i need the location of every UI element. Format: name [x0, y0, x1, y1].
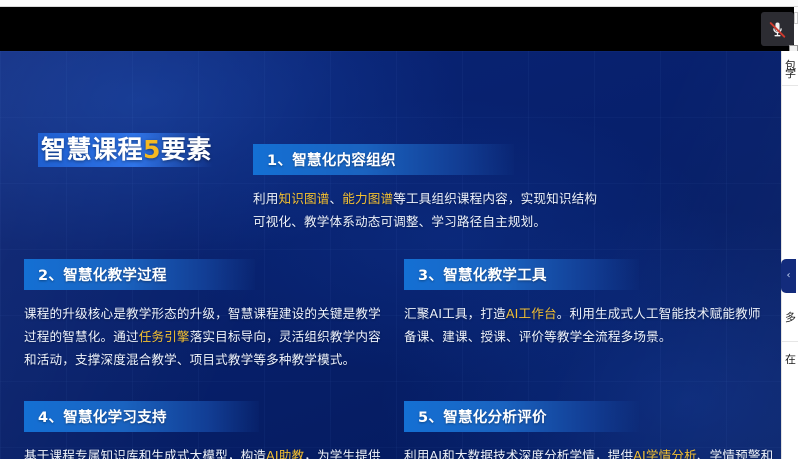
edge-divider — [782, 341, 798, 342]
page-title-number: 5 — [143, 135, 161, 164]
card-body: 课程的升级核心是教学形态的升级，智慧课程建设的关键是教学过程的智慧化。通过任务引… — [24, 303, 384, 372]
keyword-highlight: AI助教 — [266, 448, 304, 459]
page-title-suffix: 要素 — [161, 135, 212, 164]
card-body: 利用AI和大数据技术深度分析学情，提供AI学情分析、学情预警和教学建议，为个性化… — [404, 445, 776, 459]
content-card-3: 3、智慧化教学工具 汇聚AI工具，打造AI工作台。利用生成式人工智能技术赋能教师… — [404, 259, 764, 349]
body-text-run: 基于课程专属知识库和生成式大模型，构造 — [24, 448, 266, 459]
keyword-highlight: 能力图谱 — [342, 191, 393, 206]
card-body: 利用知识图谱、能力图谱等工具组织课程内容，实现知识结构可视化、教学体系动态可调整… — [253, 188, 598, 234]
content-card-5: 5、智慧化分析评价 利用AI和大数据技术深度分析学情，提供AI学情分析、学情预警… — [404, 401, 776, 459]
microphone-muted-icon[interactable] — [761, 12, 794, 46]
keyword-highlight: 知识图谱 — [279, 191, 330, 206]
edge-cutoff-column: 包学多在 — [781, 51, 798, 459]
card-heading: 3、智慧化教学工具 — [404, 259, 639, 290]
body-text-run: 、 — [329, 191, 342, 206]
card-heading: 1、智慧化内容组织 — [253, 144, 514, 175]
page-title: 智慧课程5要素 — [38, 137, 213, 162]
content-card-2: 2、智慧化教学过程 课程的升级核心是教学形态的升级，智慧课程建设的关键是教学过程… — [24, 259, 384, 372]
content-card-1: 1、智慧化内容组织 利用知识图谱、能力图谱等工具组织课程内容，实现知识结构可视化… — [253, 144, 598, 234]
presentation-slide: 智慧课程5要素 1、智慧化内容组织 利用知识图谱、能力图谱等工具组织课程内容，实… — [0, 51, 781, 459]
screen-root: 智慧课程5要素 1、智慧化内容组织 利用知识图谱、能力图谱等工具组织课程内容，实… — [0, 0, 798, 459]
card-body: 汇聚AI工具，打造AI工作台。利用生成式人工智能技术赋能教师备课、建课、授课、评… — [404, 303, 764, 349]
content-card-4: 4、智慧化学习支持 基于课程专属知识库和生成式大模型，构造AI助教，为学生提供即… — [24, 401, 386, 459]
keyword-highlight: AI学情分析 — [633, 448, 697, 459]
edge-cutoff-text: 学 — [785, 65, 796, 81]
card-heading: 4、智慧化学习支持 — [24, 401, 259, 432]
keyword-highlight: 任务引擎 — [139, 329, 190, 344]
page-title-highlight: 智慧课程 — [41, 135, 143, 164]
panel-collapse-handle-right[interactable]: ‹ — [781, 259, 796, 293]
edge-cutoff-text: 多 — [785, 309, 796, 325]
body-text-run: 汇聚AI工具，打造 — [404, 306, 506, 321]
card-heading: 5、智慧化分析评价 — [404, 401, 639, 432]
edge-cutoff-text: 在 — [785, 351, 796, 367]
body-text-run: 利用AI和大数据技术深度分析学情，提供 — [404, 448, 633, 459]
letterbox-band — [0, 7, 794, 51]
keyword-highlight: AI工作台 — [506, 306, 557, 321]
card-heading: 2、智慧化教学过程 — [24, 259, 255, 290]
edge-nub-top — [794, 12, 798, 24]
edge-divider — [782, 85, 798, 86]
chevron-left-icon: ‹ — [787, 271, 791, 281]
browser-top-strip — [0, 0, 798, 7]
body-text-run: 利用 — [253, 191, 279, 206]
card-body: 基于课程专属知识库和生成式大模型，构造AI助教，为学生提供即时答疑、学习指导、资… — [24, 445, 386, 459]
